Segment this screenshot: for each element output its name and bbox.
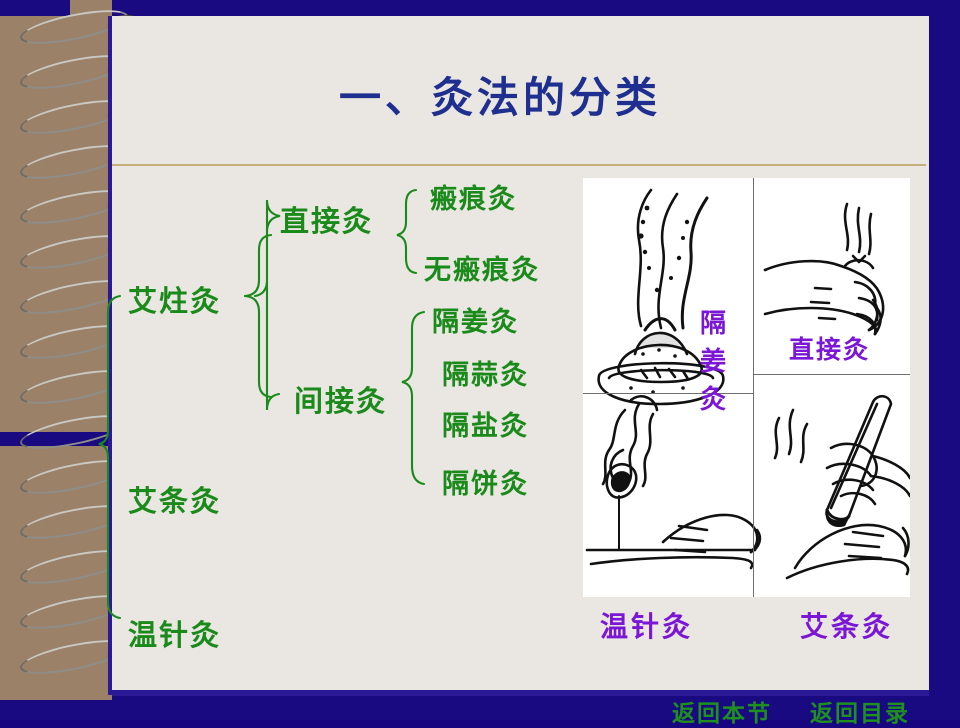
binding-middle-blue-tab	[0, 432, 116, 446]
binding-top-blue-tab	[0, 0, 70, 16]
moxibustion-line-drawings	[583, 178, 910, 597]
back-to-section-link[interactable]: 返回本节	[672, 700, 772, 727]
illustration-panel	[583, 178, 910, 597]
tree-node-level1-2[interactable]: 温针灸	[128, 612, 221, 654]
figure-label-bottom-left: 温针灸	[600, 605, 693, 645]
tree-node-level2-1[interactable]: 间接灸	[294, 378, 387, 420]
slide-canvas: 一、灸法的分类 艾炷灸 艾条灸 温针灸 直接灸 间接灸 瘢痕灸 无瘢痕灸 隔姜灸…	[0, 0, 960, 720]
tree-node-level3-indirect-3[interactable]: 隔饼灸	[442, 462, 529, 501]
panel-divider-right	[753, 374, 910, 375]
footer-navigation: 返回本节 返回目录	[672, 694, 910, 728]
tree-node-level1-1[interactable]: 艾条灸	[128, 478, 221, 520]
title-divider	[112, 164, 926, 166]
back-to-contents-link[interactable]: 返回目录	[810, 700, 910, 727]
panel-divider-vertical	[753, 178, 754, 597]
tree-node-level3-direct-1[interactable]: 无瘢痕灸	[424, 248, 540, 287]
figure-label-top-right: 直接灸	[789, 330, 870, 366]
figure-label-bottom-right: 艾条灸	[800, 605, 893, 645]
notebook-binding-strip	[0, 0, 112, 700]
tree-node-level2-0[interactable]: 直接灸	[280, 198, 373, 240]
tree-node-level3-indirect-1[interactable]: 隔蒜灸	[442, 353, 529, 392]
tree-node-level1-0[interactable]: 艾炷灸	[128, 278, 221, 320]
figure-label-top-left: 隔姜灸	[697, 305, 729, 419]
page-title: 一、灸法的分类	[180, 64, 820, 125]
tree-node-level3-direct-0[interactable]: 瘢痕灸	[430, 177, 517, 216]
tree-node-level3-indirect-2[interactable]: 隔盐灸	[442, 404, 529, 443]
tree-node-level3-indirect-0[interactable]: 隔姜灸	[432, 300, 519, 339]
